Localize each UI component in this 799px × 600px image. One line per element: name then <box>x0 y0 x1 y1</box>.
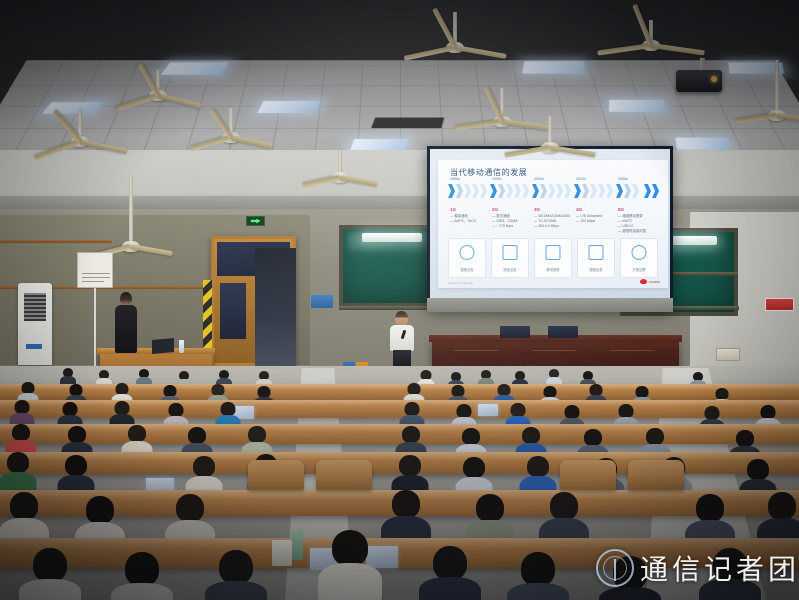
head <box>527 456 549 477</box>
fan-rod <box>78 108 82 138</box>
generation-column: 1G — 模拟通信 — AMPS、TACS <box>450 207 490 224</box>
head <box>747 459 769 480</box>
head <box>7 452 29 473</box>
head <box>392 490 420 518</box>
chevron-arrow <box>590 184 597 198</box>
chevron-arrow <box>652 184 659 198</box>
chevron-arrow <box>514 184 521 198</box>
head <box>402 426 420 443</box>
head <box>399 455 421 476</box>
chalkboard-light <box>362 233 422 242</box>
head <box>115 401 130 415</box>
head <box>332 530 368 566</box>
torso <box>205 581 267 600</box>
generation-column: 4G — LTE Advanced — 100 Mbps <box>576 207 616 224</box>
generation-timeline: 1980s 1990s 2000s 2010s 2020s <box>448 184 660 202</box>
laptop-screen <box>478 404 498 416</box>
fan-blade <box>651 43 705 55</box>
ceiling-vent <box>371 118 444 129</box>
wall-control-box <box>311 295 333 308</box>
speaker-person <box>386 311 418 365</box>
watermark: 通信记者团 <box>596 548 799 588</box>
head <box>65 455 87 476</box>
head <box>33 548 67 582</box>
head <box>248 426 266 443</box>
head <box>128 425 146 442</box>
gen-label: 2020s <box>618 177 628 181</box>
chevron-arrow <box>472 184 479 198</box>
chevron-arrow <box>556 184 563 198</box>
generation-head: 2G <box>492 207 532 212</box>
data-icon <box>546 245 561 260</box>
audience-member <box>112 552 172 600</box>
head <box>463 457 485 478</box>
service-card-label: 万物互联 <box>621 267 657 272</box>
gen-label: 2000s <box>534 177 544 181</box>
fan-blade <box>79 139 127 154</box>
wall-notice-board <box>77 252 113 288</box>
head <box>565 405 580 419</box>
torso <box>599 587 661 600</box>
message-icon <box>503 245 518 260</box>
head <box>521 552 555 586</box>
video-icon <box>589 245 604 260</box>
ceiling-fan <box>400 12 510 72</box>
projector-lamp-icon <box>711 76 717 82</box>
audience-member <box>392 455 428 495</box>
torso <box>19 579 81 600</box>
service-card-label: 移动宽带 <box>535 267 571 272</box>
speaker-head <box>395 311 408 326</box>
head <box>188 427 206 444</box>
press-corps-logo-icon <box>596 549 634 587</box>
head <box>63 402 78 416</box>
chevron-arrow <box>464 184 471 198</box>
audience-member <box>420 546 480 600</box>
huawei-logo-icon <box>640 279 647 284</box>
chevron-arrow <box>644 184 651 198</box>
ceiling-fan <box>86 175 176 215</box>
generation-bullet: — ~ 270 kbps <box>492 224 532 229</box>
service-card-label: 语音业务 <box>449 267 485 272</box>
generation-head: 1G <box>450 207 490 212</box>
audience-member <box>20 548 80 600</box>
head <box>768 492 796 520</box>
ceiling-light-panel <box>609 100 665 112</box>
water-bottle <box>179 340 184 353</box>
ac-vent-grille <box>24 293 46 321</box>
torso <box>111 583 173 600</box>
head <box>86 496 114 524</box>
wall-panel-box <box>716 348 740 361</box>
chevron-arrow <box>598 184 605 198</box>
chevron-arrow <box>564 184 571 198</box>
ceiling-fan <box>732 60 799 104</box>
head <box>696 494 724 522</box>
ceiling-fan <box>300 150 380 186</box>
wall-trim <box>0 240 112 243</box>
air-conditioner <box>18 283 52 365</box>
audience-member <box>508 552 568 600</box>
chevron-arrow <box>540 184 547 198</box>
chair-back <box>560 460 616 490</box>
generation-head: 5G <box>618 207 658 212</box>
head <box>433 546 467 580</box>
gen-label: 2010s <box>576 177 586 181</box>
fan-blade <box>340 175 378 187</box>
speaker-trousers <box>393 350 411 366</box>
screen-valance <box>427 298 673 312</box>
assistant-head <box>120 292 132 306</box>
head <box>176 494 204 522</box>
exit-arrow-icon <box>251 219 261 224</box>
generation-bullet: — 384 k-2 Mbps <box>534 224 574 229</box>
chevron-arrow <box>522 184 529 198</box>
screen-surface: 当代移动通信的发展 1980s 1990s 2000s 2010s 2020s <box>430 149 670 306</box>
head <box>705 406 720 420</box>
door-opening <box>255 248 296 366</box>
chair-back <box>316 460 372 490</box>
gen-label: 1990s <box>492 177 502 181</box>
notice-line <box>82 273 110 274</box>
lecture-hall-photo: 当代移动通信的发展 1980s 1990s 2000s 2010s 2020s <box>0 0 799 600</box>
generation-column: 3G — WCDMA/CDMA2000 — TD-SCDMA — 384 k-2… <box>534 207 574 229</box>
phone-icon <box>460 245 475 260</box>
notice-line <box>82 277 110 278</box>
generation-bullet: — 100 Mbps <box>576 219 616 224</box>
fan-blade <box>550 145 596 157</box>
slide-title: 当代移动通信的发展 <box>450 167 527 178</box>
head <box>169 403 184 417</box>
ceiling-light-panel <box>675 138 730 150</box>
chair-back <box>248 460 304 490</box>
head <box>550 492 578 520</box>
head <box>125 552 159 586</box>
huawei-brand: HUAWEI <box>640 279 660 284</box>
desk-monitor <box>548 326 578 338</box>
assistant-person <box>114 292 138 354</box>
chevron-arrow <box>480 184 487 198</box>
generation-bullet: — AMPS、TACS <box>450 219 490 224</box>
head <box>219 550 253 584</box>
head <box>68 426 86 443</box>
fan-rod <box>129 175 133 243</box>
head <box>457 404 472 418</box>
watermark-text: 通信记者团 <box>640 548 799 588</box>
generation-bullet: — WCDMA/CDMA2000 <box>534 214 574 219</box>
service-card: 万物互联 <box>620 238 658 278</box>
chevron-arrow <box>506 184 513 198</box>
generation-head: 4G <box>576 207 616 212</box>
chevron-arrow <box>616 184 623 198</box>
ceiling-fan <box>502 116 598 162</box>
fan-rod <box>229 108 233 134</box>
audience-member <box>0 452 36 492</box>
chevron-arrow <box>448 184 455 198</box>
torso <box>507 583 569 600</box>
fan-rod <box>775 60 779 112</box>
generation-column: 2G — 数字通信 — GSM、CDMA — ~ 270 kbps <box>492 207 532 229</box>
head <box>584 429 602 446</box>
audience-member <box>320 530 380 600</box>
service-card-label: 视频业务 <box>578 267 614 272</box>
head <box>405 402 420 416</box>
projection-screen: 当代移动通信的发展 1980s 1990s 2000s 2010s 2020s <box>427 146 673 309</box>
audience-member <box>58 455 94 495</box>
audience-member <box>206 550 266 600</box>
chevron-arrow <box>490 184 497 198</box>
service-card: 短信业务 <box>491 238 529 278</box>
ceiling-light-panel <box>522 61 585 73</box>
chevron-arrow <box>498 184 505 198</box>
head <box>12 424 30 441</box>
head <box>761 405 776 419</box>
fan-rod <box>548 116 552 144</box>
head <box>522 427 540 444</box>
fan-blade <box>404 45 456 61</box>
notice-post <box>94 288 96 366</box>
podium-laptop <box>152 338 174 354</box>
head <box>736 430 754 447</box>
chevron-arrow <box>574 184 581 198</box>
fan-blade <box>34 139 81 160</box>
audience-member <box>10 400 34 426</box>
generation-head: 3G <box>534 207 574 212</box>
head <box>15 400 30 414</box>
head <box>10 492 38 520</box>
hazard-stripe <box>203 280 212 358</box>
head <box>221 402 236 416</box>
water-bottle <box>292 530 303 560</box>
slide-footer: Huawei Confidential <box>448 281 473 285</box>
desk-surface <box>0 538 799 547</box>
chair-back <box>628 460 684 490</box>
head <box>511 403 526 417</box>
fan-blade <box>455 45 507 59</box>
service-card: 语音业务 <box>448 238 486 278</box>
torso <box>318 563 382 600</box>
service-card-label: 短信业务 <box>492 267 528 272</box>
presentation-slide: 当代移动通信的发展 1980s 1990s 2000s 2010s 2020s <box>438 160 668 288</box>
chevron-arrow <box>548 184 555 198</box>
chevron-arrow <box>632 184 639 198</box>
fan-blade <box>454 119 502 131</box>
exit-sign <box>246 216 265 226</box>
notice-line <box>82 281 104 282</box>
chevron-arrow <box>582 184 589 198</box>
gen-label: 1980s <box>450 177 460 181</box>
chevron-arrow <box>532 184 539 198</box>
door-glass-lower <box>220 283 246 339</box>
desk-monitor <box>500 326 530 338</box>
head <box>646 428 664 445</box>
iot-icon <box>632 245 647 260</box>
generation-bullet: — 超低时延高可靠 <box>618 229 658 234</box>
generation-column: 5G — 增强移动宽带 — mMTC — URLLC — 超低时延高可靠 <box>618 207 658 235</box>
head <box>462 428 480 445</box>
fan-blade <box>115 93 158 111</box>
head <box>193 456 215 477</box>
fan-blade <box>157 93 201 108</box>
ceiling-fan <box>186 108 276 148</box>
huawei-brand-label: HUAWEI <box>649 280 660 284</box>
ceiling-fan <box>596 20 706 76</box>
head <box>619 404 634 418</box>
ac-badge <box>26 344 42 349</box>
chevron-arrow <box>456 184 463 198</box>
torso <box>419 577 481 600</box>
safety-sign <box>765 298 794 311</box>
head <box>476 494 504 522</box>
chevron-arrow <box>624 184 631 198</box>
chevron-arrow <box>606 184 613 198</box>
assistant-body <box>115 305 137 353</box>
service-cards: 语音业务 短信业务 移动宽带 视频业务 <box>448 238 660 278</box>
drink-cup <box>272 540 292 566</box>
service-card: 视频业务 <box>577 238 615 278</box>
service-card: 移动宽带 <box>534 238 572 278</box>
fan-rod <box>338 150 342 174</box>
